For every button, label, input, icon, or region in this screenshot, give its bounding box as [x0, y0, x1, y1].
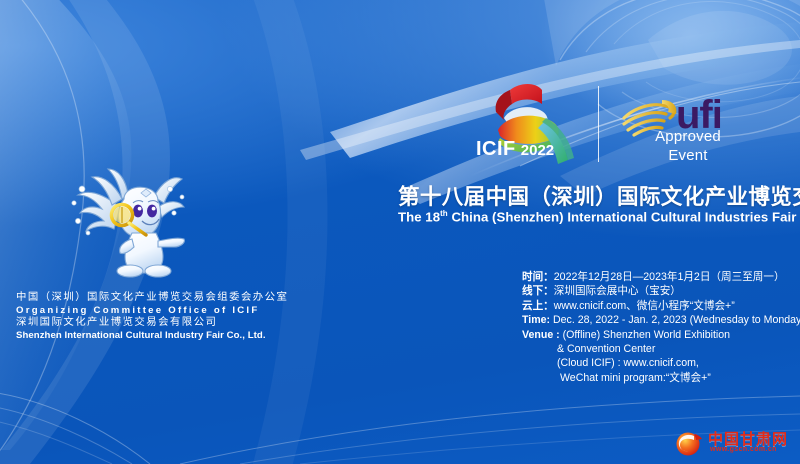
icif-name: ICIF — [476, 138, 516, 160]
info-offline-cn: 线下：深圳国际会展中心（宝安） — [522, 284, 800, 298]
page-title-english: The 18th China (Shenzhen) International … — [398, 209, 796, 224]
icif-wordmark: ICIF2022 — [476, 138, 554, 161]
info-cloud-cn-value: www.cnicif.com、微信小程序“文博会+” — [554, 300, 735, 312]
info-time-cn-label: 时间： — [522, 271, 554, 283]
icif-year: 2022 — [521, 142, 554, 159]
title-en-suffix: China (Shenzhen) International Cultural … — [448, 209, 797, 224]
info-time-en: Time: Dec. 28, 2022 - Jan. 2, 2023 (Wedn… — [522, 313, 800, 327]
organizer-line-cn-2: 深圳国际文化产业博览交易会有限公司 — [16, 317, 288, 330]
organizer-block: 中国（深圳）国际文化产业博览交易会组委会办公室 Organizing Commi… — [16, 292, 288, 342]
info-venue-en-value: (Offline) Shenzhen World Exhibition — [560, 329, 730, 341]
gscn-circle-icon — [672, 429, 706, 457]
organizer-line-en-2: Shenzhen International Cultural Industry… — [16, 330, 288, 343]
ufi-approved-event-logo: ufi Approved Event — [618, 84, 758, 168]
info-time-en-label: Time: — [522, 314, 550, 326]
ufi-event-label: Event — [618, 147, 758, 164]
logo-divider — [598, 86, 599, 162]
title-en-ordinal: th — [440, 209, 448, 218]
info-time-en-value: Dec. 28, 2022 - Jan. 2, 2023 (Wednesday … — [550, 314, 800, 326]
info-cloud-cn-label: 云上： — [522, 300, 554, 312]
info-offline-cn-value: 深圳国际会展中心（宝安） — [554, 285, 681, 297]
page-title-chinese: 第十八届中国（深圳）国际文化产业博览交易会 — [398, 180, 800, 211]
icif-2022-poster: ICIF2022 ufi — [0, 0, 800, 464]
watermark-site-url: www.gscn.com.cn — [710, 446, 777, 453]
info-venue-line3: (Cloud ICIF) : www.cnicif.com, — [522, 356, 800, 370]
info-venue-en-label: Venue : — [522, 329, 560, 341]
organizer-line-cn-1: 中国（深圳）国际文化产业博览交易会组委会办公室 — [16, 292, 288, 305]
title-en-prefix: The 18 — [398, 209, 440, 224]
info-venue-en: Venue : (Offline) Shenzhen World Exhibit… — [522, 328, 800, 342]
organizer-line-en-1: Organizing Committee Office of ICIF — [16, 305, 288, 318]
icif-mascot — [62, 163, 192, 283]
info-cloud-cn: 云上：www.cnicif.com、微信小程序“文博会+” — [522, 299, 800, 313]
info-time-cn-value: 2022年12月28日—2023年1月2日（周三至周一） — [554, 271, 785, 283]
info-venue-line2: & Convention Center — [522, 342, 800, 356]
site-watermark: 中国甘肃网 www.gscn.com.cn — [672, 427, 794, 459]
ufi-approved-label: Approved — [618, 128, 758, 145]
event-info-block: 时间：2022年12月28日—2023年1月2日（周三至周一） 线下：深圳国际会… — [522, 270, 800, 385]
info-offline-cn-label: 线下： — [522, 285, 554, 297]
logo-row: ICIF2022 ufi — [470, 78, 770, 170]
info-time-cn: 时间：2022年12月28日—2023年1月2日（周三至周一） — [522, 270, 800, 284]
info-venue-line4: WeChat mini program:“文博会+” — [522, 371, 800, 385]
